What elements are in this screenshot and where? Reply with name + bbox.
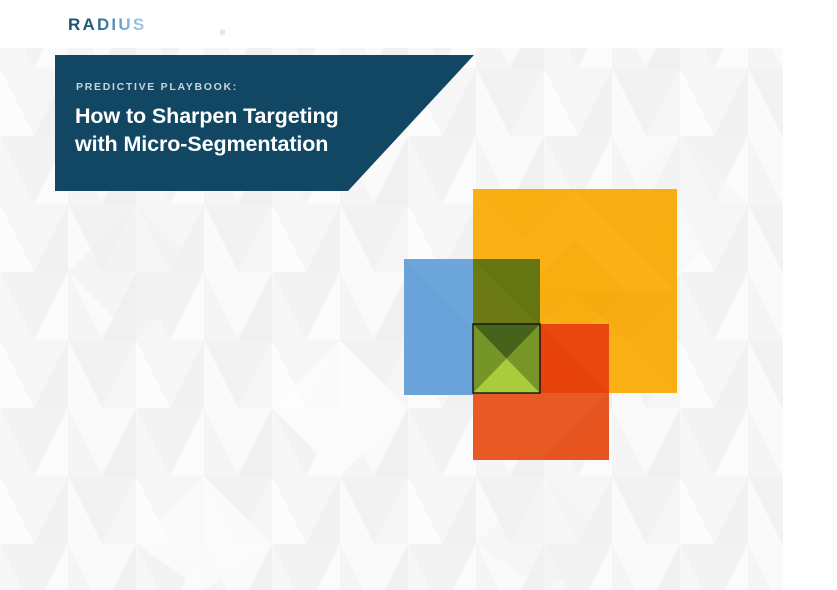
eyebrow-label: PREDICTIVE PLAYBOOK: xyxy=(76,82,238,93)
radius-logo[interactable]: RADIUS xyxy=(68,15,146,34)
title-banner: PREDICTIVE PLAYBOOK: How to Sharpen Targ… xyxy=(55,55,474,191)
page-title: How to Sharpen Targeting with Micro-Segm… xyxy=(75,102,445,159)
page-title-line-1: How to Sharpen Targeting xyxy=(75,102,445,130)
header-band: RADIUS ® xyxy=(0,0,837,48)
yellow-red-overlap xyxy=(540,324,609,393)
page-title-line-2: with Micro-Segmentation xyxy=(75,130,445,158)
cover-page: RADIUS ® PREDICTIVE PLAYBOOK: How to Sha… xyxy=(0,0,837,590)
right-margin xyxy=(783,0,837,590)
center-triple-overlap xyxy=(473,324,540,393)
trademark-symbol: ® xyxy=(220,30,225,37)
